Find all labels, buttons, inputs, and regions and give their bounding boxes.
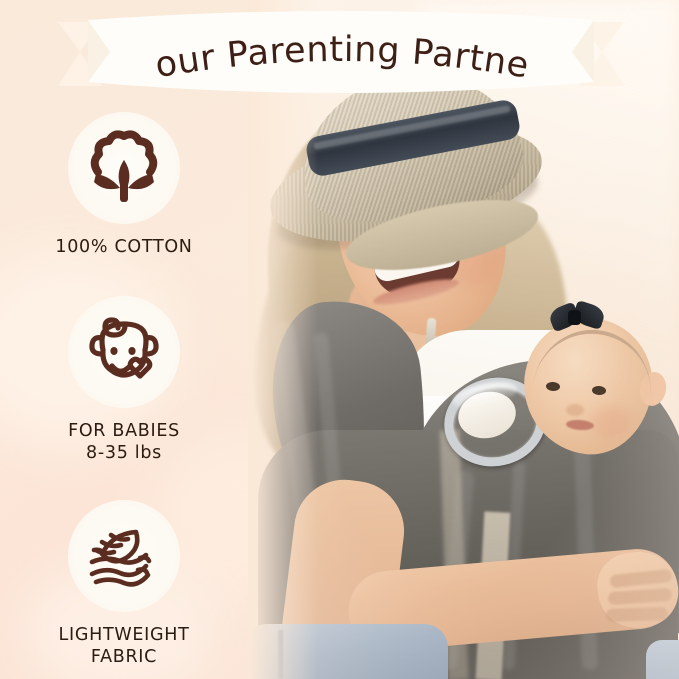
banner-title-wrap: Your Parenting Partner	[58, 8, 624, 100]
page-title: Your Parenting Partner	[48, 0, 532, 87]
feature-label-line2: FABRIC	[0, 646, 248, 668]
feature-label-line1: FOR BABIES	[68, 421, 180, 441]
feature-label-line1: LIGHTWEIGHT	[59, 625, 190, 645]
feature-badge	[68, 500, 180, 612]
feature-label: FOR BABIES 8-35 lbs	[0, 420, 248, 465]
feature-cotton: 100% COTTON	[0, 112, 248, 258]
lifestyle-photo	[248, 0, 679, 679]
baby-face-heart-icon	[76, 304, 172, 400]
photo-left-fade	[248, 0, 318, 679]
feature-badge	[68, 296, 180, 408]
feature-label: LIGHTWEIGHT FABRIC	[0, 624, 248, 669]
feature-baby-weight: FOR BABIES 8-35 lbs	[0, 296, 248, 465]
banner: Your Parenting Partner	[58, 8, 624, 100]
cotton-flower-icon	[76, 120, 172, 216]
feature-lightweight: LIGHTWEIGHT FABRIC	[0, 500, 248, 669]
product-image-canvas: Your Parenting Partner 100% COTT	[0, 0, 679, 679]
feature-badge	[68, 112, 180, 224]
feature-label-line1: 100% COTTON	[55, 237, 192, 257]
feature-label: 100% COTTON	[0, 236, 248, 258]
feather-fabric-icon	[76, 508, 172, 604]
feature-label-line2: 8-35 lbs	[0, 442, 248, 464]
